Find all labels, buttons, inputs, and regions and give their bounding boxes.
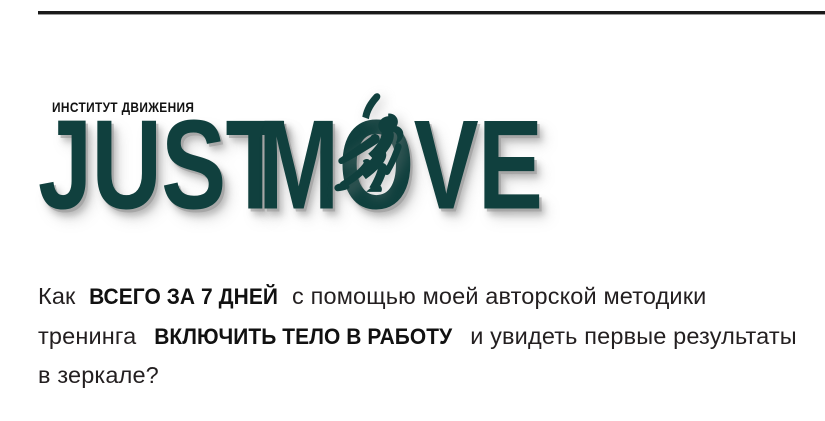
slide-root: ИНСТИТУТ ДВИЖЕНИЯ JUST MOVE [0,0,825,421]
headline-copy: Как ВСЕГО ЗА 7 ДНЕЙ с помощью моей автор… [38,277,808,395]
headline-emphasis-1: ВСЕГО ЗА 7 ДНЕЙ [89,278,278,317]
top-divider-rule [38,11,825,15]
wordmark-move: MOVE [258,115,542,216]
headline-segment-1: Как [38,283,82,309]
headline-emphasis-2: ВКЛЮЧИТЬ ТЕЛО В РАБОТУ [154,318,452,357]
brand-wordmark: JUST MOVE [38,115,613,213]
wordmark-just: JUST [38,115,284,216]
brand-logo-block: ИНСТИТУТ ДВИЖЕНИЯ JUST MOVE [38,45,578,240]
